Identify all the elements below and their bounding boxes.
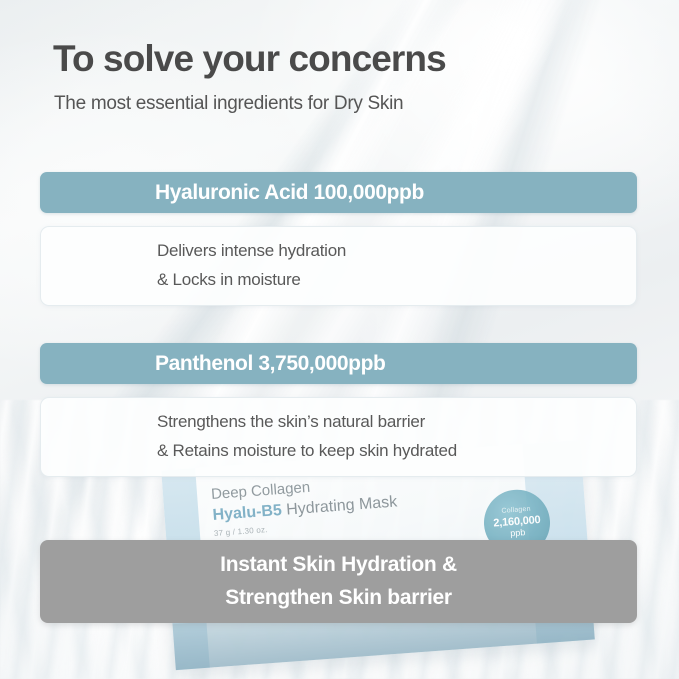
benefit-line: Delivers intense hydration [157, 237, 636, 266]
summary-banner: Instant Skin Hydration & Strengthen Skin… [40, 540, 637, 623]
page-subtitle: The most essential ingredients for Dry S… [54, 93, 403, 115]
ingredient-benefit-card: Strengthens the skin’s natural barrier &… [40, 397, 637, 477]
ingredient-benefit-card: Delivers intense hydration & Locks in mo… [40, 226, 637, 306]
ingredient-block-panthenol: Panthenol 3,750,000ppb Strengthens the s… [40, 343, 637, 477]
page-title: To solve your concerns [53, 38, 446, 80]
ingredient-banner: Panthenol 3,750,000ppb [40, 343, 637, 384]
ingredient-banner-label: Panthenol 3,750,000ppb [155, 352, 385, 376]
content-overlay: To solve your concerns The most essentia… [0, 0, 679, 679]
ingredient-banner: Hyaluronic Acid 100,000ppb [40, 172, 637, 213]
benefit-line: & Locks in moisture [157, 266, 636, 295]
product-detail-image: Deep Collagen Hyalu-B5 Hydrating Mask 37… [0, 0, 679, 679]
benefit-line: Strengthens the skin’s natural barrier [157, 408, 636, 437]
ingredient-banner-label: Hyaluronic Acid 100,000ppb [155, 181, 424, 205]
summary-line: Instant Skin Hydration & [220, 549, 457, 582]
summary-line: Strengthen Skin barrier [225, 582, 452, 615]
benefit-line: & Retains moisture to keep skin hydrated [157, 437, 636, 466]
ingredient-block-hyaluronic-acid: Hyaluronic Acid 100,000ppb Delivers inte… [40, 172, 637, 306]
